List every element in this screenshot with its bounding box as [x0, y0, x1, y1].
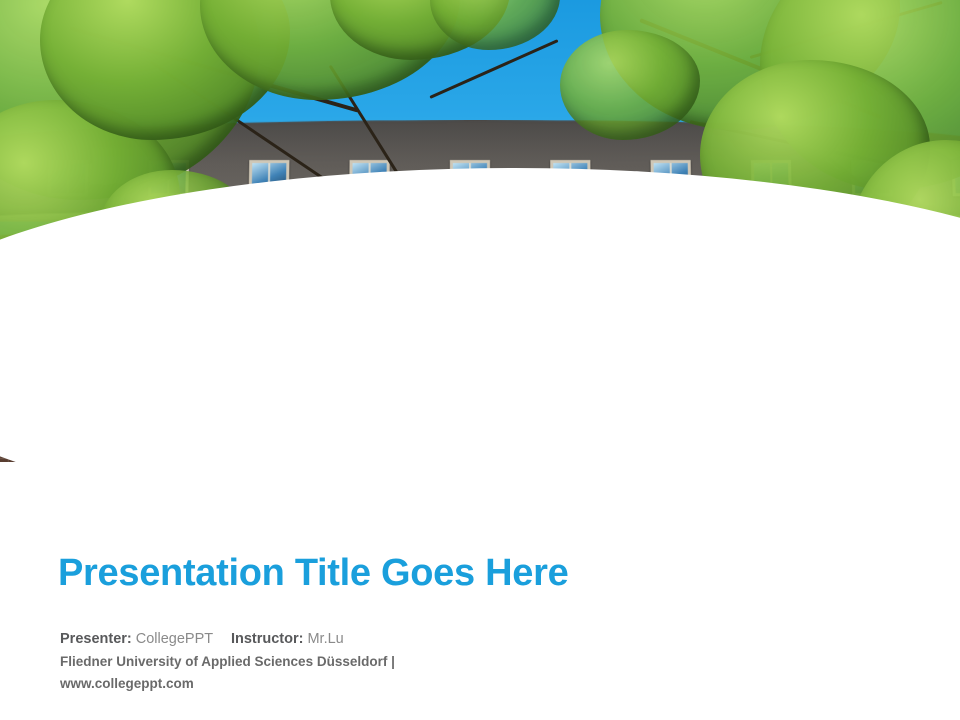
- slide-content: Presentation Title Goes Here Presenter: …: [0, 500, 960, 720]
- window: [47, 160, 88, 196]
- instructor-value: Mr.Lu: [307, 631, 343, 647]
- photo-bottom-fill: [0, 462, 960, 500]
- presenter-label: Presenter:: [60, 631, 132, 647]
- presentation-slide: Presentation Title Goes Here Presenter: …: [0, 0, 960, 720]
- instructor-label: Instructor:: [231, 631, 304, 647]
- hero-photo: [0, 0, 960, 500]
- white-curve-cutout: [0, 168, 960, 500]
- organization-name: Fliedner University of Applied Sciences …: [60, 651, 395, 673]
- window: [851, 160, 892, 196]
- campus-building-photo: [0, 0, 960, 500]
- presenter-line: Presenter: CollegePPT Instructor: Mr.Lu: [60, 628, 395, 651]
- page-title: Presentation Title Goes Here: [58, 552, 568, 595]
- window: [148, 160, 189, 196]
- presenter-value: CollegePPT: [136, 631, 213, 647]
- window: [951, 160, 960, 196]
- presenter-meta: Presenter: CollegePPT Instructor: Mr.Lu …: [60, 628, 395, 695]
- website-url[interactable]: www.collegeppt.com: [60, 673, 395, 695]
